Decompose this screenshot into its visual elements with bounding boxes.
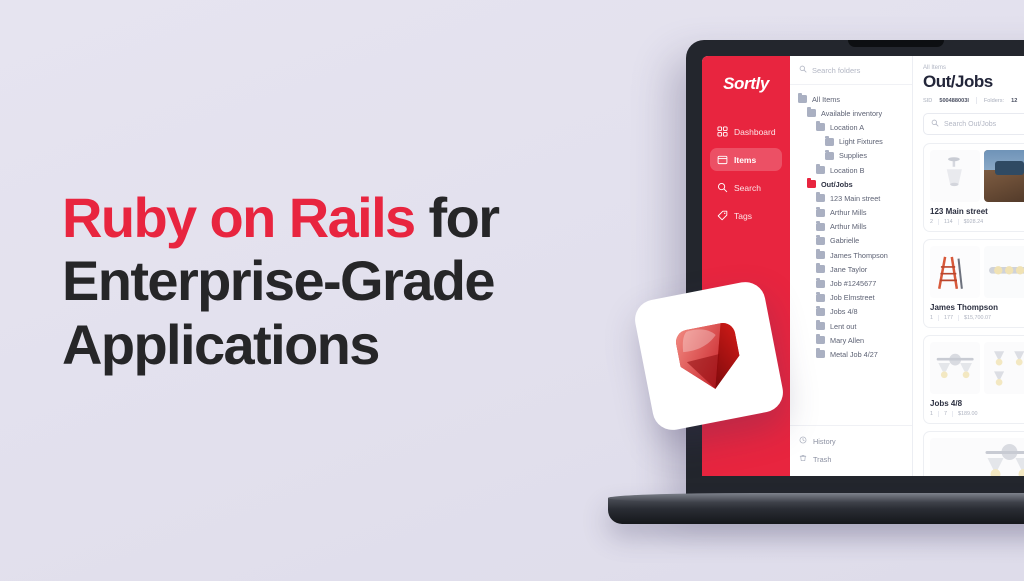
stat-divider: [938, 315, 939, 321]
sidebar-item-label: Tags: [734, 211, 752, 221]
laptop-lid: Sortly Dashboard Items Search: [686, 40, 1024, 498]
tree-node-label: Location B: [830, 166, 864, 175]
folder-icon: [816, 265, 825, 273]
tree-node-label: Jane Taylor: [830, 265, 867, 274]
card-title: James Thompson: [930, 303, 1024, 312]
sidebar-item-search[interactable]: Search: [710, 176, 782, 199]
tree-node-label: Light Fixtures: [839, 137, 883, 146]
tree-node[interactable]: 123 Main street: [790, 191, 912, 205]
item-card[interactable]: James Thompson 1 177 $15,700.07: [923, 239, 1024, 328]
total-value: $15,700.07: [964, 315, 991, 321]
history-item[interactable]: History: [790, 432, 912, 450]
tree-node[interactable]: Gabrielle: [790, 234, 912, 248]
stat-divider: [958, 219, 959, 225]
tree-node[interactable]: Job #1245677: [790, 276, 912, 290]
tree-node[interactable]: Available inventory: [790, 106, 912, 120]
trash-item[interactable]: Trash: [790, 450, 912, 468]
box-icon: [717, 154, 728, 165]
folders-label: Folders:: [984, 98, 1004, 104]
tree-node-label: 123 Main street: [830, 194, 880, 203]
tree-node-label: Available inventory: [821, 109, 882, 118]
folder-icon: [816, 294, 825, 302]
card-stats: 1 7 $189.00: [930, 411, 1024, 417]
headline-accent: Ruby on Rails: [62, 186, 415, 249]
tree-node-label: Location A: [830, 123, 864, 132]
folder-icon: [816, 336, 825, 344]
item-count: 7: [944, 411, 947, 417]
tag-icon: [717, 210, 728, 221]
item-count: 177: [944, 315, 953, 321]
pendant-light-photo: [984, 342, 1024, 394]
light-bar-photo: [984, 246, 1024, 298]
sortly-logo: Sortly: [702, 74, 790, 94]
history-icon: [799, 436, 807, 446]
tree-node-label: Job #1245677: [830, 279, 876, 288]
sidebar-item-dashboard[interactable]: Dashboard: [710, 120, 782, 143]
card-thumbnails: [930, 150, 1024, 202]
tree-node-label: Metal Job 4/27: [830, 350, 878, 359]
step-ladder-photo: [930, 246, 980, 298]
folder-icon: [816, 194, 825, 202]
sid-value: 500488003I: [939, 98, 969, 104]
tree-node-label: Mary Allen: [830, 336, 864, 345]
item-count: 114: [944, 219, 953, 225]
folder-icon: [816, 251, 825, 259]
tree-node[interactable]: Light Fixtures: [790, 135, 912, 149]
card-thumbnails: [930, 246, 1024, 298]
folder-icon: [807, 180, 816, 188]
history-label: History: [813, 437, 836, 446]
tree-node-label: Lent out: [830, 322, 856, 331]
sidebar-item-items[interactable]: Items: [710, 148, 782, 171]
item-card[interactable]: 123 Main street 2 114 $928.24: [923, 143, 1024, 232]
folder-icon: [816, 209, 825, 217]
folder-icon: [825, 138, 834, 146]
workshop-photo: [984, 150, 1024, 202]
sidebar-item-label: Search: [734, 183, 761, 193]
folder-search-placeholder: Search folders: [812, 66, 860, 75]
card-thumbnails: [930, 342, 1024, 394]
tree-node-label: James Thompson: [830, 251, 888, 260]
ruby-logo-badge: [632, 279, 787, 434]
folder-icon: [816, 166, 825, 174]
detail-panel: All Items Out/Jobs SID 500488003I Folder…: [913, 56, 1024, 476]
folder-icon: [816, 123, 825, 131]
folder-count: 1: [930, 411, 933, 417]
folder-icon: [816, 322, 825, 330]
folder-icon: [825, 152, 834, 160]
item-card[interactable]: Jobs 4/8 1 7 $189.00: [923, 335, 1024, 424]
tree-node[interactable]: James Thompson: [790, 248, 912, 262]
tree-node[interactable]: Supplies: [790, 149, 912, 163]
headline-line3: Applications: [62, 313, 379, 376]
sidebar-item-label: Dashboard: [734, 127, 776, 137]
folder-search-input[interactable]: Search folders: [790, 56, 912, 85]
folder-meta: SID 500488003I Folders: 12 Items:: [913, 92, 1024, 104]
breadcrumb: All Items: [913, 56, 1024, 71]
card-title: Jobs 4/8: [930, 399, 1024, 408]
stat-divider: [938, 219, 939, 225]
tree-node[interactable]: Arthur Mills: [790, 206, 912, 220]
tree-node[interactable]: Location A: [790, 120, 912, 134]
tree-node-label: Arthur Mills: [830, 208, 867, 217]
folder-icon: [807, 109, 816, 117]
sid-label: SID: [923, 98, 932, 104]
tree-node-label: Supplies: [839, 151, 867, 160]
poster-canvas: Ruby on Rails for Enterprise-Grade Appli…: [0, 0, 1024, 581]
vanity-light-photo: [930, 342, 980, 394]
folder-icon: [798, 95, 807, 103]
folder-icon: [816, 280, 825, 288]
tree-node-label: Arthur Mills: [830, 222, 867, 231]
folder-icon: [816, 308, 825, 316]
tree-node-label: Out/Jobs: [821, 180, 853, 189]
folder-title: Out/Jobs: [913, 71, 1024, 92]
card-title: 123 Main street: [930, 207, 1024, 216]
search-icon: [931, 119, 939, 129]
stat-divider: [952, 411, 953, 417]
stat-divider: [958, 315, 959, 321]
ruby-gem-logo-icon: [657, 304, 760, 407]
tree-node-out-jobs[interactable]: Out/Jobs: [790, 177, 912, 191]
stat-divider: [938, 411, 939, 417]
item-card-partial[interactable]: [923, 431, 1024, 476]
tree-node[interactable]: All Items: [790, 92, 912, 106]
tree-node[interactable]: Mary Allen: [790, 333, 912, 347]
card-stats: 2 114 $928.24: [930, 219, 1024, 225]
tree-node[interactable]: Arthur Mills: [790, 220, 912, 234]
tree-node-label: Job Elmstreet: [830, 293, 875, 302]
trash-label: Trash: [813, 455, 831, 464]
tree-node-label: All Items: [812, 95, 840, 104]
tree-node[interactable]: Metal Job 4/27: [790, 347, 912, 361]
item-card-list: 123 Main street 2 114 $928.24: [913, 135, 1024, 476]
tree-node[interactable]: Location B: [790, 163, 912, 177]
sidebar-item-tags[interactable]: Tags: [710, 204, 782, 227]
meta-divider: [976, 97, 977, 104]
total-value: $928.24: [964, 219, 984, 225]
vanity-light-photo: [930, 438, 1024, 476]
sidebar-item-label: Items: [734, 155, 756, 165]
folder-tree-panel: Search folders All Items Available inven…: [790, 56, 913, 476]
card-stats: 1 177 $15,700.07: [930, 315, 1024, 321]
folder-tree-list: All Items Available inventory Location A…: [790, 85, 912, 425]
page-title: Ruby on Rails for Enterprise-Grade Appli…: [62, 186, 622, 376]
search-icon: [717, 182, 728, 193]
headline-line2: Enterprise-Grade: [62, 249, 494, 312]
tree-node[interactable]: Jane Taylor: [790, 262, 912, 276]
total-value: $189.00: [958, 411, 978, 417]
folders-value: 12: [1011, 98, 1017, 104]
folder-count: 2: [930, 219, 933, 225]
tree-node-label: Jobs 4/8: [830, 307, 858, 316]
dashboard-icon: [717, 126, 728, 137]
folder-count: 1: [930, 315, 933, 321]
detail-search-input[interactable]: Search Out/Jobs: [923, 113, 1024, 135]
search-icon: [799, 65, 807, 75]
tree-node[interactable]: Lent out: [790, 319, 912, 333]
tree-node-label: Gabrielle: [830, 236, 859, 245]
laptop-mockup: Sortly Dashboard Items Search: [686, 40, 1024, 510]
tree-node[interactable]: Jobs 4/8: [790, 305, 912, 319]
trash-icon: [799, 454, 807, 464]
track-light-photo: [930, 150, 980, 202]
folder-tree-footer: History Trash: [790, 425, 912, 476]
headline-rest-line1: for: [415, 186, 499, 249]
card-thumbnails: [930, 438, 1024, 476]
tree-node[interactable]: Job Elmstreet: [790, 291, 912, 305]
folder-icon: [816, 350, 825, 358]
laptop-camera-notch: [848, 40, 944, 47]
laptop-base: [608, 498, 1024, 524]
detail-search-placeholder: Search Out/Jobs: [944, 121, 996, 128]
folder-icon: [816, 223, 825, 231]
folder-icon: [816, 237, 825, 245]
